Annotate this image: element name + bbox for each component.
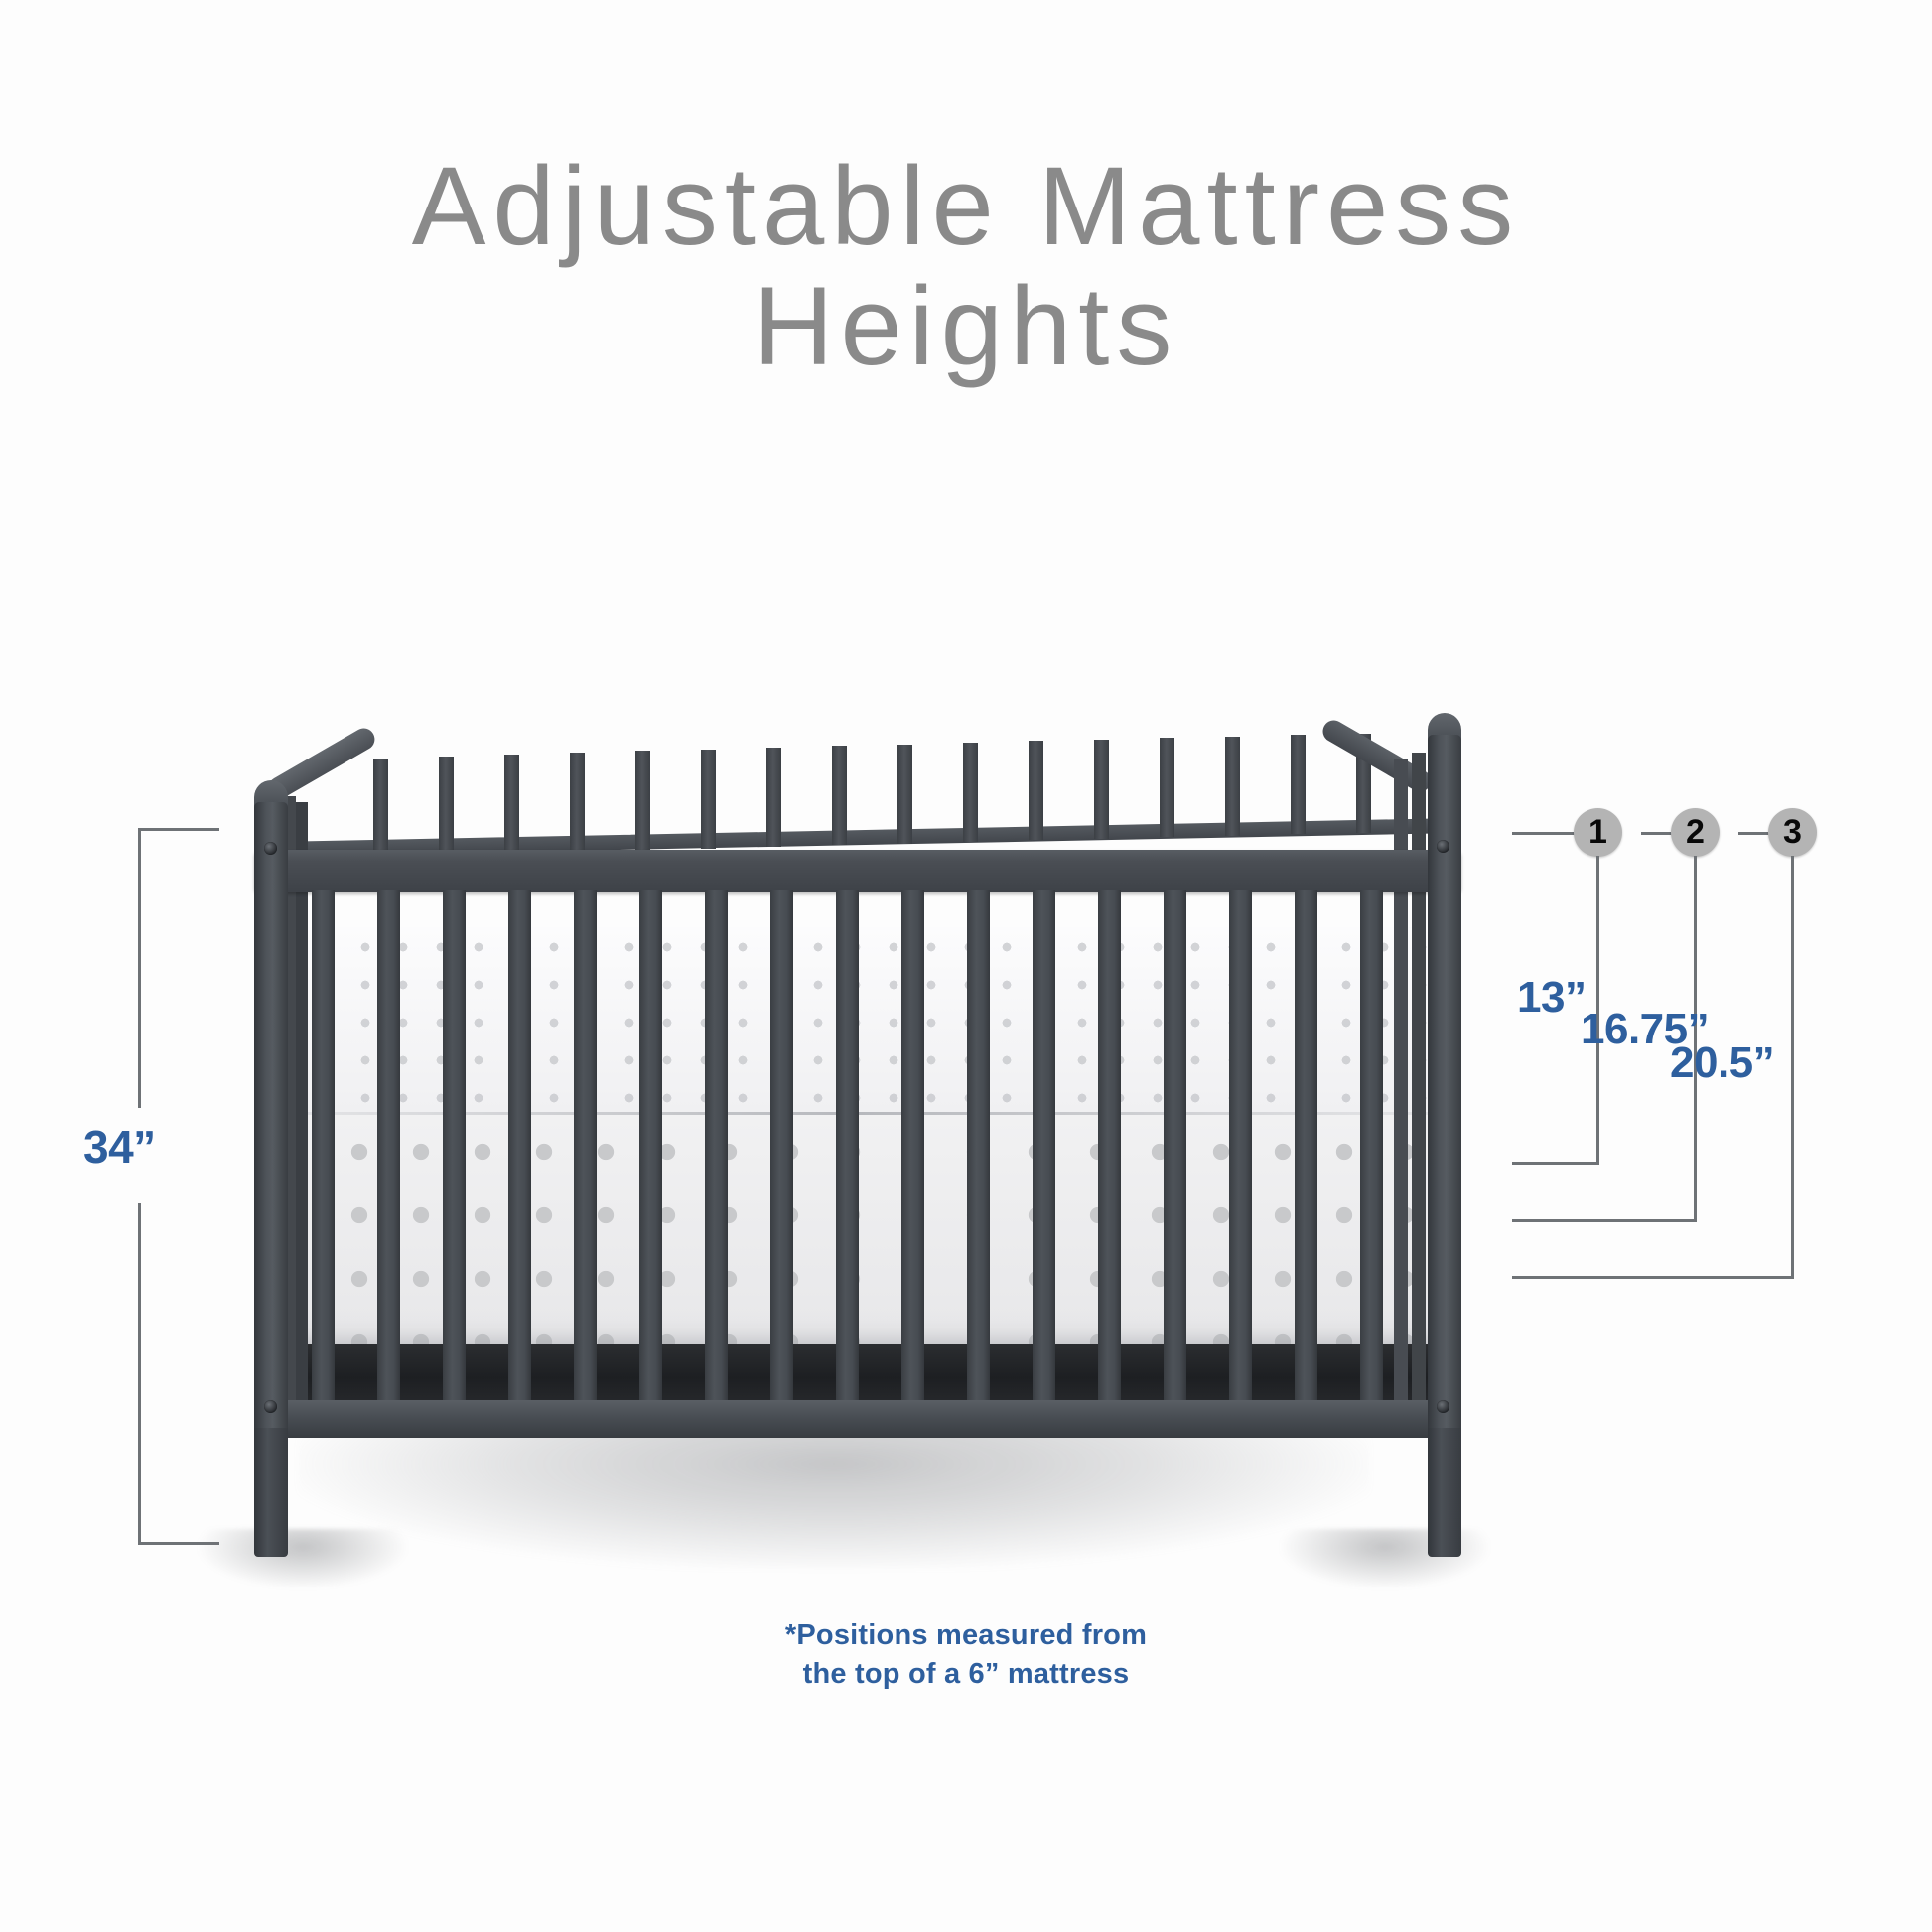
position-3-measure: 20.5” bbox=[1670, 1038, 1774, 1088]
back-slat bbox=[635, 751, 650, 850]
back-slat bbox=[963, 743, 978, 842]
footnote-line-2: the top of a 6” mattress bbox=[0, 1655, 1932, 1694]
front-slat bbox=[1360, 890, 1383, 1402]
front-slat bbox=[705, 890, 728, 1402]
back-slat bbox=[373, 759, 388, 858]
back-slat bbox=[1094, 740, 1109, 839]
front-slat bbox=[1033, 890, 1055, 1402]
crib-graphic bbox=[254, 733, 1461, 1557]
left-post-screw-lower bbox=[264, 1400, 277, 1413]
bottom-rail bbox=[254, 1400, 1461, 1438]
front-slat bbox=[1164, 890, 1186, 1402]
position-badge-3[interactable]: 3 bbox=[1768, 808, 1817, 857]
front-slat bbox=[1098, 890, 1121, 1402]
back-slat bbox=[504, 755, 519, 854]
footnote: *Positions measured from the top of a 6”… bbox=[0, 1616, 1932, 1693]
back-slat bbox=[1291, 735, 1306, 834]
left-leg bbox=[254, 1428, 288, 1557]
right-post-screw-lower bbox=[1437, 1400, 1449, 1413]
front-slat bbox=[967, 890, 990, 1402]
position-badge-2[interactable]: 2 bbox=[1671, 808, 1720, 857]
back-slat bbox=[1029, 741, 1043, 840]
callout-3-drop bbox=[1791, 856, 1794, 1278]
front-slat bbox=[836, 890, 859, 1402]
front-slat bbox=[1229, 890, 1252, 1402]
dimension-tick-bottom bbox=[138, 1542, 219, 1545]
dimension-tick-top bbox=[138, 828, 219, 831]
back-slat bbox=[897, 745, 912, 844]
dimension-line-upper bbox=[138, 828, 141, 1108]
front-slat bbox=[443, 890, 466, 1402]
position-1-measure: 13” bbox=[1517, 973, 1586, 1023]
footnote-line-1: *Positions measured from bbox=[0, 1616, 1932, 1655]
front-slat bbox=[901, 890, 924, 1402]
overall-height-label: 34” bbox=[83, 1120, 156, 1173]
front-top-rail bbox=[254, 850, 1461, 892]
back-slat bbox=[1160, 738, 1174, 837]
right-leg bbox=[1428, 1428, 1461, 1557]
front-slat bbox=[312, 890, 335, 1402]
back-slat bbox=[766, 748, 781, 847]
back-slat bbox=[439, 757, 454, 856]
callout-1-base bbox=[1512, 1162, 1599, 1165]
front-slat bbox=[639, 890, 662, 1402]
back-slat bbox=[832, 746, 847, 845]
front-slat bbox=[1295, 890, 1317, 1402]
front-slat bbox=[377, 890, 400, 1402]
callout-3-base bbox=[1512, 1276, 1794, 1279]
back-slat bbox=[1225, 737, 1240, 836]
front-slat bbox=[770, 890, 793, 1402]
left-post-screw bbox=[264, 842, 277, 855]
front-slat bbox=[508, 890, 531, 1402]
front-slat bbox=[574, 890, 597, 1402]
left-corner-post bbox=[254, 802, 288, 1434]
back-slat bbox=[701, 750, 716, 849]
position-badge-1[interactable]: 1 bbox=[1574, 808, 1622, 857]
back-slat bbox=[570, 753, 585, 852]
dimension-line-lower bbox=[138, 1203, 141, 1545]
right-post-screw bbox=[1437, 840, 1449, 853]
callout-2-base bbox=[1512, 1219, 1697, 1222]
